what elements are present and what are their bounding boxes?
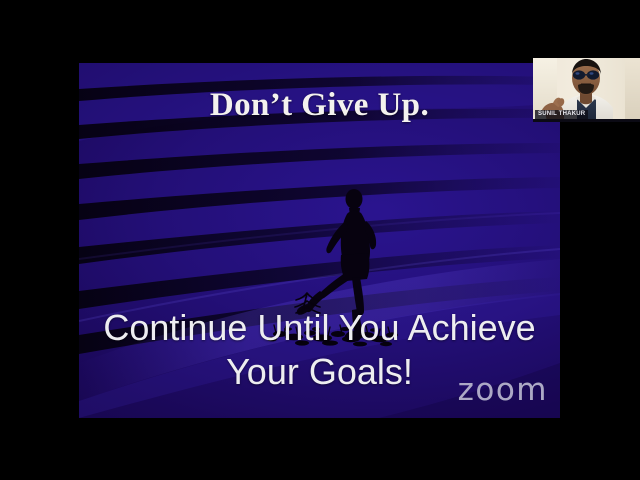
shared-screen-slide[interactable]: Don’t Give Up. [79,63,560,418]
slide-title: Don’t Give Up. [79,87,560,124]
participant-name-label: SUNIL THAKUR [535,110,588,119]
caption-line-1: Continue Until You Achieve [103,307,535,348]
participant-video-tile[interactable]: SUNIL THAKUR [533,58,640,122]
zoom-meeting-screen: Don’t Give Up. [0,0,640,480]
webcam-bottom-edge [533,119,640,122]
zoom-watermark: zoom [458,375,548,406]
